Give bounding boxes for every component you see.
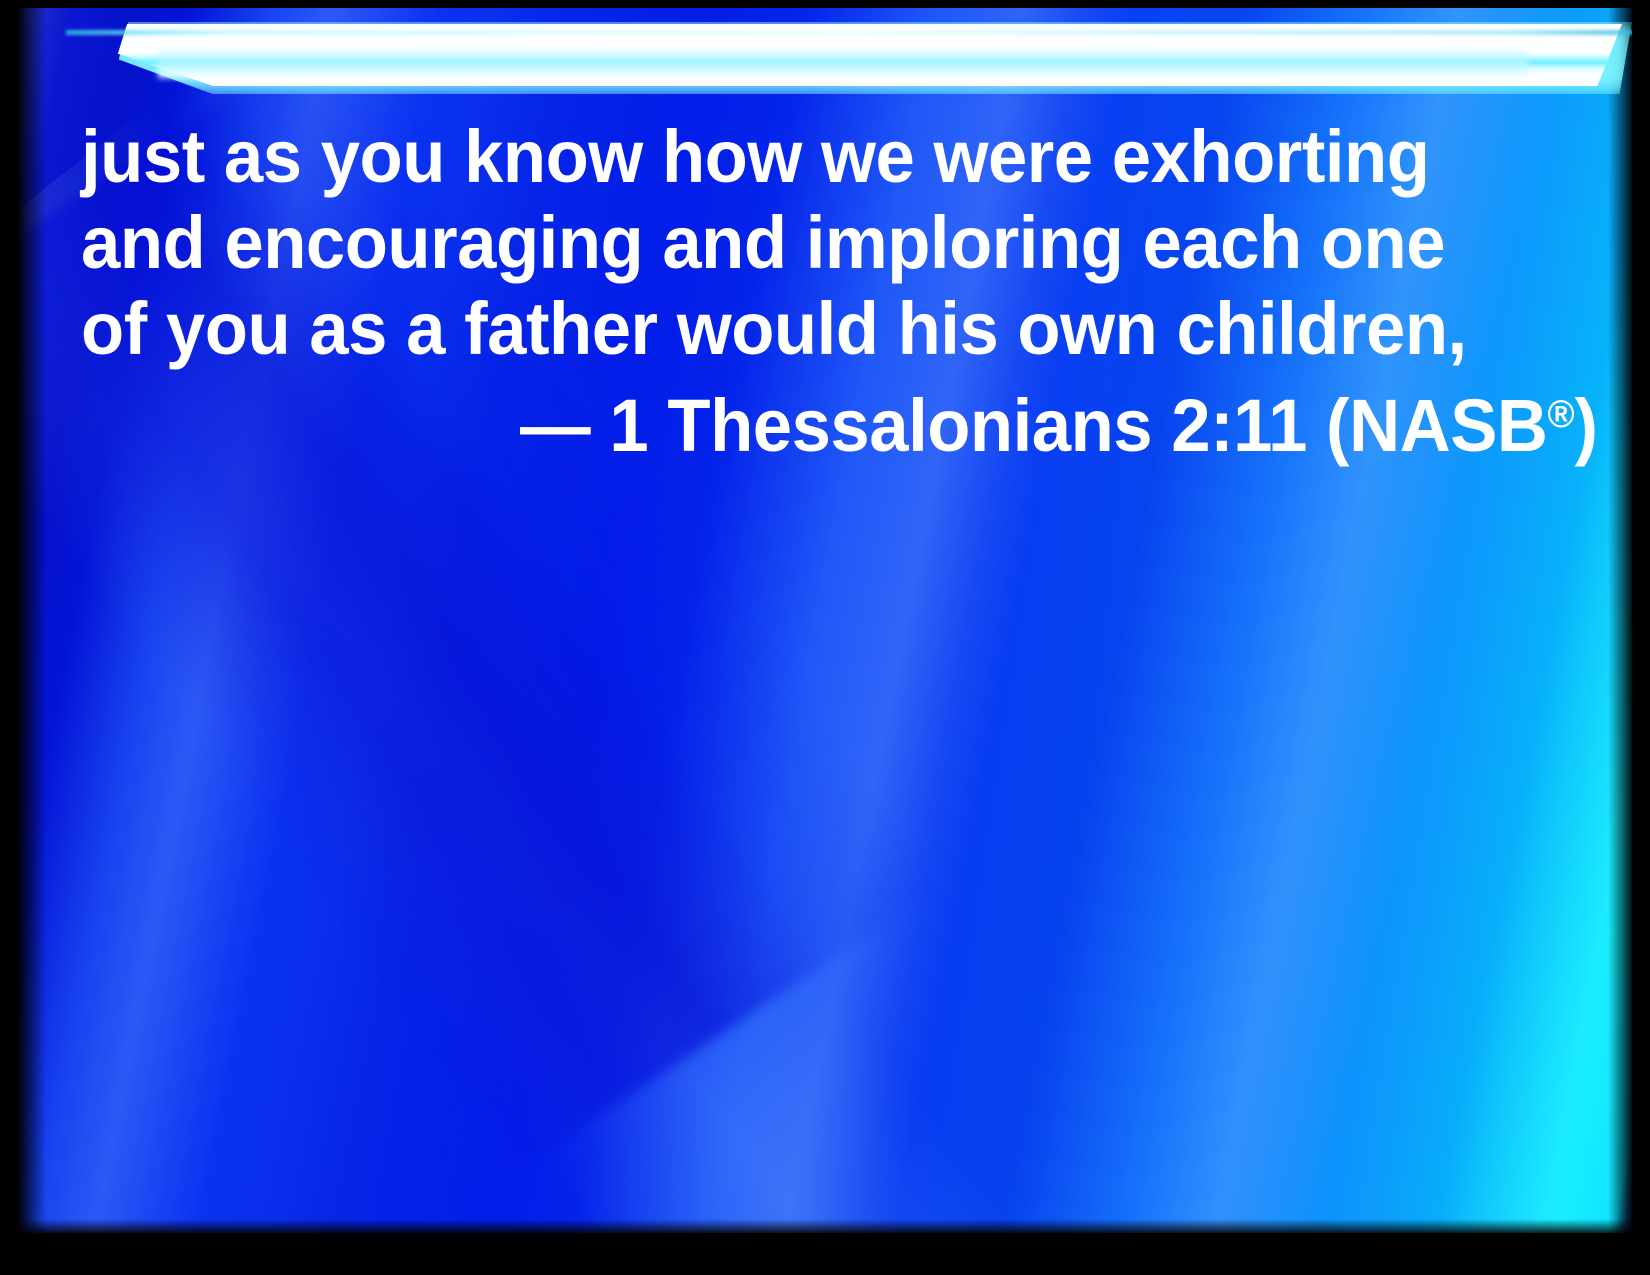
verse-line-3: of you as a father would his own childre… — [18, 286, 1559, 372]
slide-background-stage: just as you know how we were exhorting a… — [18, 8, 1632, 1233]
verse-reference: — 1 Thessalonians 2:11 (NASB®) — [91, 372, 1632, 469]
reference-em-dash: — — [520, 384, 609, 467]
registered-trademark-icon: ® — [1547, 393, 1574, 436]
verse-line-2: and encouraging and imploring each one — [18, 200, 1559, 286]
verse-text-block: just as you know how we were exhorting a… — [18, 8, 1632, 469]
reference-translation: NASB — [1349, 384, 1547, 467]
verse-slide: just as you know how we were exhorting a… — [0, 0, 1650, 1275]
reference-open-paren: ( — [1326, 384, 1349, 467]
reference-citation: 1 Thessalonians 2:11 — [609, 384, 1326, 467]
reference-close-paren: ) — [1575, 384, 1598, 467]
verse-line-1: just as you know how we were exhorting — [18, 114, 1559, 200]
